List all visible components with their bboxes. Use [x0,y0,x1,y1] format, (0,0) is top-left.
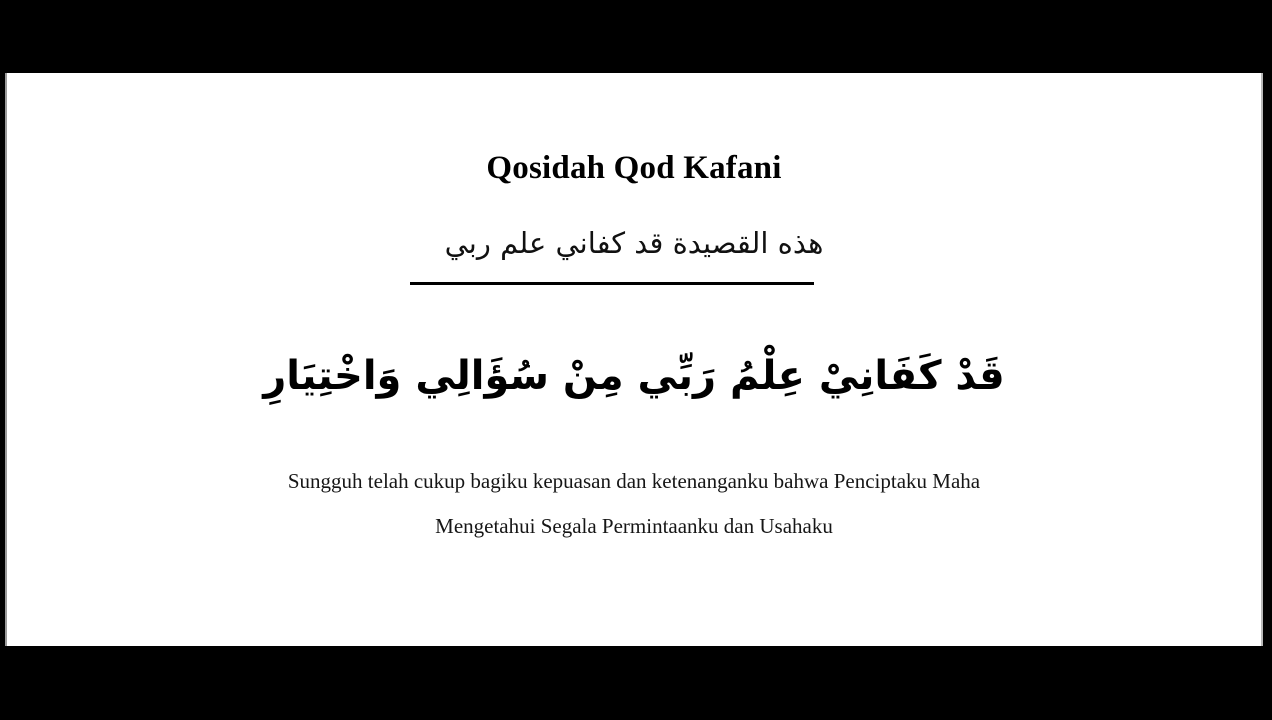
arabic-subtitle-container: هذه القصيدة قد كفاني علم ربي [7,223,1261,263]
page-title: Qosidah Qod Kafani [7,149,1261,187]
translation-line-1: Sungguh telah cukup bagiku kepuasan dan … [7,459,1261,504]
translation-line-2: Mengetahui Segala Permintaanku dan Usaha… [7,504,1261,549]
letterbox-bar-top [0,0,1272,73]
arabic-verse: قَدْ كَفَانِيْ عِلْمُ رَبِّي مِنْ سُؤَال… [263,345,1004,407]
video-frame: Qosidah Qod Kafani هذه القصيدة قد كفاني … [0,0,1272,720]
subtitle-underline-rule [410,282,814,285]
arabic-verse-container: قَدْ كَفَانِيْ عِلْمُ رَبِّي مِنْ سُؤَال… [7,345,1261,407]
letterbox-bar-bottom [0,646,1272,720]
document-page: Qosidah Qod Kafani هذه القصيدة قد كفاني … [5,73,1263,646]
arabic-subtitle: هذه القصيدة قد كفاني علم ربي [445,223,824,263]
translation-block: Sungguh telah cukup bagiku kepuasan dan … [7,459,1261,549]
